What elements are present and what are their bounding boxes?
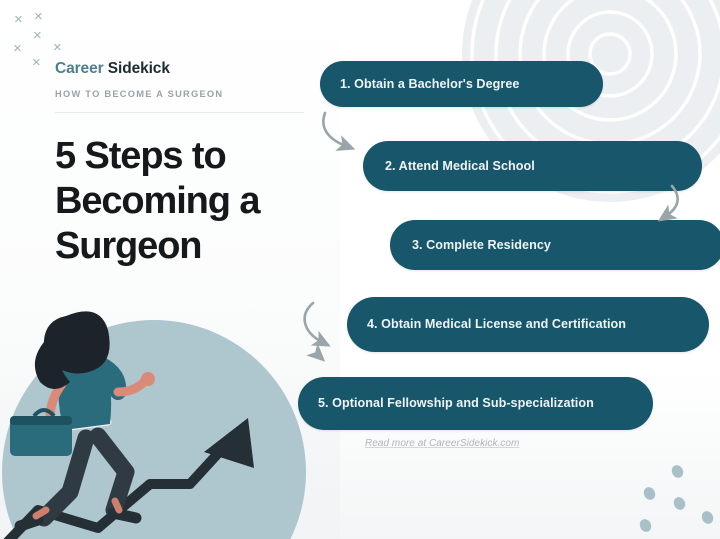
step-1-box[interactable]: 1. Obtain a Bachelor's Degree — [320, 61, 603, 107]
step-5-label: 5. Optional Fellowship and Sub-specializ… — [318, 395, 594, 412]
step-3-box[interactable]: 3. Complete Residency — [390, 220, 720, 270]
infographic-canvas: × × × × × × Career Sidekick HOW TO BECOM… — [0, 0, 720, 539]
steps-flow: 1. Obtain a Bachelor's Degree 2. Attend … — [0, 0, 720, 539]
step-4-label: 4. Obtain Medical License and Certificat… — [367, 316, 626, 333]
read-more-link[interactable]: Read more at CareerSidekick.com — [365, 438, 519, 449]
step-2-box[interactable]: 2. Attend Medical School — [363, 141, 702, 191]
step-1-label: 1. Obtain a Bachelor's Degree — [340, 76, 519, 92]
step-3-label: 3. Complete Residency — [412, 237, 551, 253]
step-5-box[interactable]: 5. Optional Fellowship and Sub-specializ… — [298, 377, 653, 430]
step-2-label: 2. Attend Medical School — [385, 158, 535, 174]
step-4-box[interactable]: 4. Obtain Medical License and Certificat… — [347, 297, 709, 352]
